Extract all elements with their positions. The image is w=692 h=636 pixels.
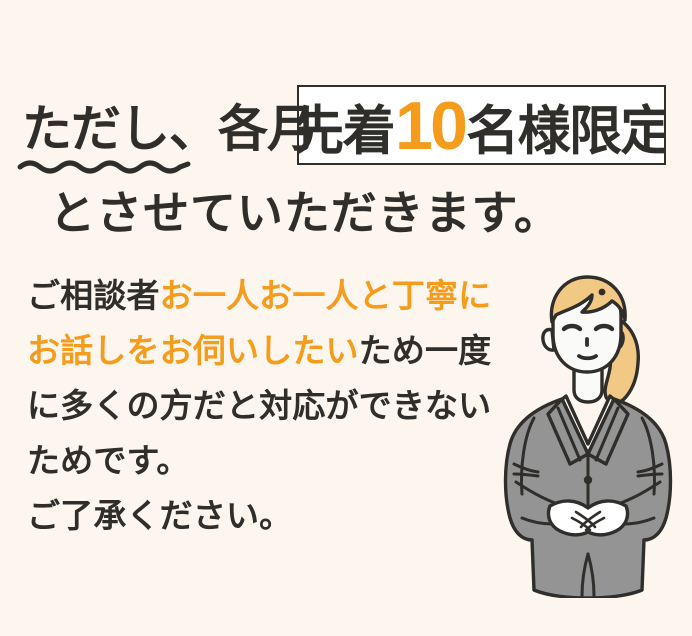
wavy-underline-decoration — [18, 158, 190, 174]
body-line: に多くの方だと対応ができない — [27, 378, 517, 433]
body-segment: お一人お一人と丁寧に — [160, 277, 492, 314]
body-paragraph: ご相談者お一人お一人と丁寧に お話しをお伺いしたいため一度 に多くの方だと対応が… — [27, 268, 517, 543]
emphasis-box: 先着 10 名様限定 — [297, 85, 666, 165]
body-segment: お話しをお伺いしたい — [27, 332, 359, 369]
businesswoman-bowing-illustration — [488, 268, 688, 598]
headline-line-2-text: とさせていただきます。 — [49, 187, 561, 239]
headline-lead-text: ただし、各月 — [22, 104, 316, 154]
headline-line-2: とさせていただきます。 — [0, 190, 692, 236]
emphasis-box-content: 先着 10 名様限定 — [297, 92, 666, 160]
body-line: ご相談者お一人お一人と丁寧に — [27, 268, 517, 323]
body-line: ためです。 — [27, 433, 517, 488]
body-segment: ご相談者 — [27, 277, 160, 314]
body-segment: ため一度 — [359, 332, 492, 369]
promo-graphic-canvas: ただし、各月 先着 10 名様限定 とさせていただきます。 ご相談者お一人お一人… — [0, 0, 692, 636]
body-segment: ご了承ください。 — [27, 497, 292, 534]
body-line: ご了承ください。 — [27, 488, 517, 543]
body-line: お話しをお伺いしたいため一度 — [27, 323, 517, 378]
emphasis-number: 10 — [395, 92, 465, 160]
body-segment: ためです。 — [27, 442, 190, 479]
emphasis-suffix-text: 名様限定 — [466, 105, 666, 158]
body-segment: に多くの方だと対応ができない — [27, 387, 491, 424]
